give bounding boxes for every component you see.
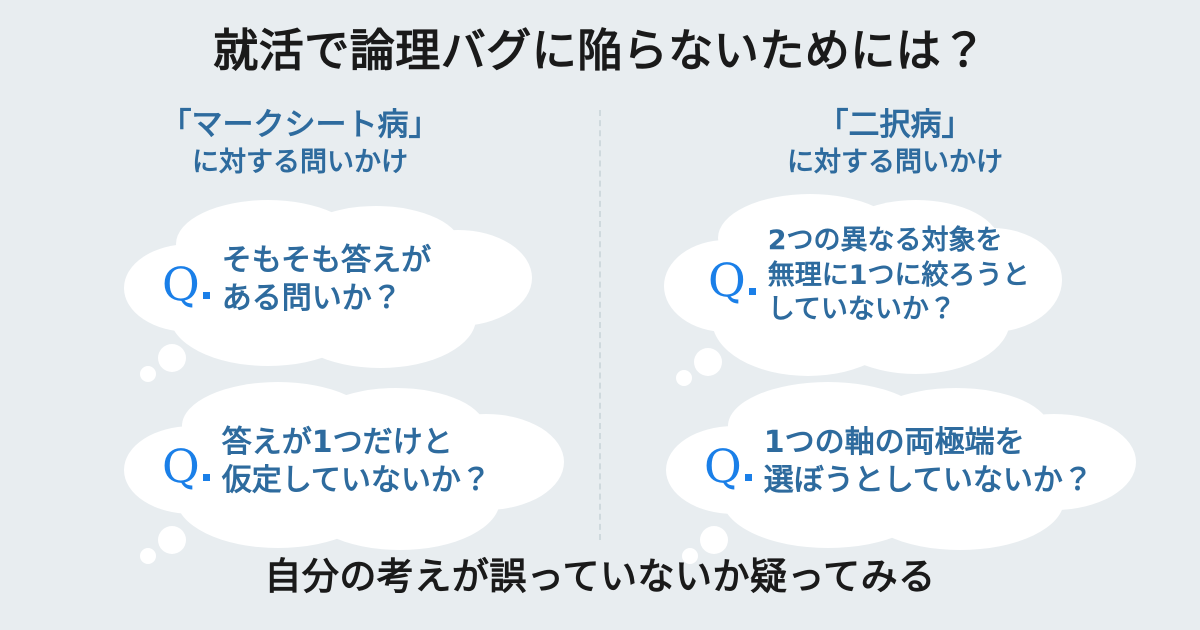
bubble-content: Q 2つの異なる対象を 無理に1つに絞ろうと していないか？	[708, 224, 1020, 328]
column-divider	[599, 110, 601, 540]
bubble-text: 2つの異なる対象を 無理に1つに絞ろうと していないか？	[768, 224, 1030, 328]
column-heading-line1: 「マークシート病」	[40, 106, 560, 146]
bubble-content: Q そもそも答えが ある問いか？	[162, 242, 421, 319]
bubble-text-line: ある問いか？	[222, 280, 431, 318]
column-heading-line1: 「二択病」	[630, 106, 1160, 146]
column-heading-line2: に対する問いかけ	[40, 146, 560, 181]
bubble-text-line: 仮定していないか？	[222, 462, 491, 500]
bubble-text: 1つの軸の両極端を 選ぼうとしていないか？	[764, 424, 1093, 501]
bubble-text-line: 答えが1つだけと	[222, 424, 491, 462]
question-marker-dot	[203, 474, 210, 481]
footer-caption: 自分の考えが誤っていないか疑ってみる	[0, 546, 1200, 600]
question-marker: Q	[162, 261, 210, 307]
question-marker-dot	[203, 292, 210, 299]
column-heading-nitakubyo: 「二択病」 に対する問いかけ	[630, 106, 1160, 180]
poster-canvas: 就活で論理バグに陥らないためには？ 「マークシート病」 に対する問いかけ 「二択…	[0, 0, 1200, 630]
question-marker-dot	[749, 288, 756, 295]
bubble-text-line: そもそも答えが	[222, 242, 431, 280]
bubble-text: 答えが1つだけと 仮定していないか？	[222, 424, 491, 501]
question-marker: Q	[162, 443, 210, 489]
column-heading-marksheet: 「マークシート病」 に対する問いかけ	[40, 106, 560, 180]
question-marker-dot	[745, 474, 752, 481]
bubble-content: Q 答えが1つだけと 仮定していないか？	[162, 424, 481, 501]
page-title: 就活で論理バグに陥らないためには？	[0, 24, 1200, 78]
bubble-text-line: していないか？	[768, 293, 1030, 328]
bubble-content: Q 1つの軸の両極端を 選ぼうとしていないか？	[704, 424, 1083, 501]
bubble-text-line: 選ぼうとしていないか？	[764, 462, 1093, 500]
bubble-text-line: 2つの異なる対象を	[768, 224, 1030, 259]
question-marker: Q	[708, 257, 756, 303]
column-heading-line2: に対する問いかけ	[630, 146, 1160, 181]
bubble-text: そもそも答えが ある問いか？	[222, 242, 431, 319]
question-marker: Q	[704, 443, 752, 489]
bubble-text-line: 1つの軸の両極端を	[764, 424, 1093, 462]
bubble-text-line: 無理に1つに絞ろうと	[768, 259, 1030, 294]
